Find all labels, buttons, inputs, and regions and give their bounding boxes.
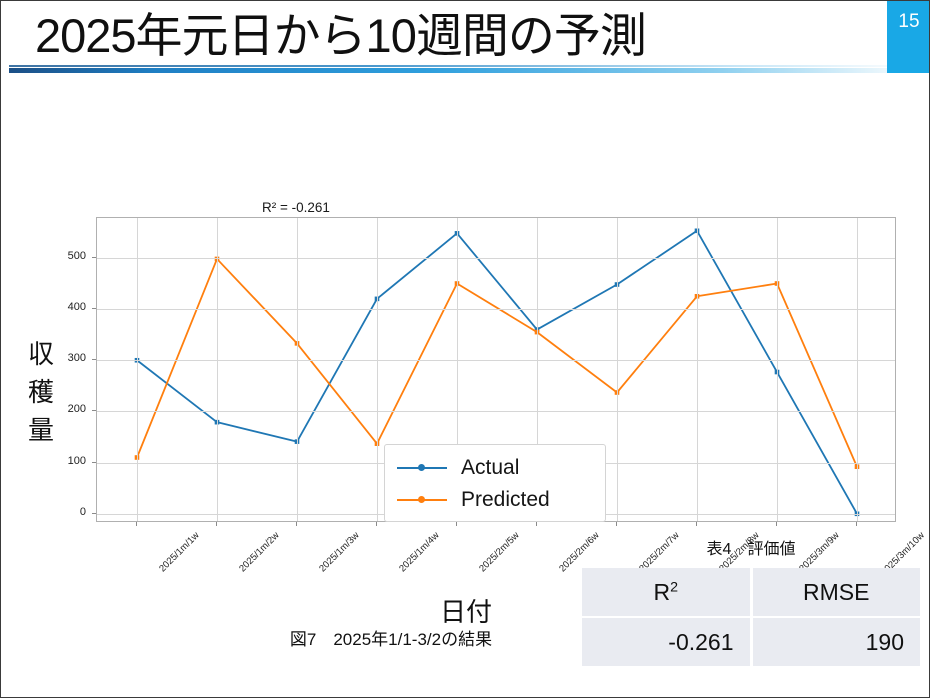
evaluation-table: R2 RMSE -0.261 190 [579,566,923,668]
x-tick-mark [856,522,857,526]
x-tick-label: 2025/1m/1w [157,530,201,574]
chart-title: R² = -0.261 [96,200,496,215]
x-tick-label: 2025/1m/3w [317,530,361,574]
y-tick-label: 100 [1,455,86,467]
x-tick-mark [296,522,297,526]
x-gridline [697,218,698,521]
x-tick-mark [136,522,137,526]
table-header-row: R2 RMSE [582,568,920,616]
table-header-r2-text: R [653,579,670,605]
table-cell-rmse-value: 190 [753,618,921,666]
y-tick-label: 300 [1,352,86,364]
x-gridline [857,218,858,521]
x-tick-mark [216,522,217,526]
x-gridline [377,218,378,521]
y-tick-mark [92,308,96,309]
legend-item-predicted: Predicted [385,484,605,516]
table-header-r2: R2 [582,568,750,616]
y-tick-label: 500 [1,250,86,262]
title-underline-rule [9,68,923,73]
y-tick-mark [92,359,96,360]
legend-label-actual: Actual [461,456,519,480]
x-tick-label: 2025/1m/4w [397,530,441,574]
y-tick-mark [92,410,96,411]
slide-number-badge: 15 [887,1,929,73]
x-gridline [617,218,618,521]
x-gridline [217,218,218,521]
table-caption: 表4 評価値 [579,535,923,559]
x-tick-mark [536,522,537,526]
table-header-rmse: RMSE [753,568,921,616]
title-rule-thin [9,65,923,67]
y-tick-label: 400 [1,301,86,313]
x-tick-label: 2025/1m/2w [237,530,281,574]
x-tick-mark [696,522,697,526]
x-gridline [777,218,778,521]
x-tick-mark [456,522,457,526]
legend-swatch-actual [397,467,447,469]
y-tick-mark [92,462,96,463]
legend-label-predicted: Predicted [461,488,550,512]
table-header-r2-exponent: 2 [670,579,678,595]
legend-item-actual: Actual [385,452,605,484]
table-row: -0.261 190 [582,618,920,666]
slide-header: 2025年元日から10週間の予測 15 [1,1,929,77]
x-tick-mark [776,522,777,526]
y-tick-mark [92,257,96,258]
y-tick-label: 0 [1,506,86,518]
x-tick-mark [376,522,377,526]
x-gridline [137,218,138,521]
figure-area: 収穫量 R² = -0.261 Actual Predicted 日付 図7 2… [1,87,929,567]
page-title: 2025年元日から10週間の予測 [35,5,646,67]
evaluation-table-block: 表4 評価値 R2 RMSE -0.261 190 [579,535,923,668]
y-tick-label: 200 [1,403,86,415]
y-tick-mark [92,513,96,514]
legend-swatch-predicted [397,499,447,501]
series-line-predicted [137,259,857,467]
x-tick-label: 2025/2m/5w [477,530,521,574]
x-tick-mark [616,522,617,526]
chart-legend: Actual Predicted [384,444,606,522]
slide-canvas: 2025年元日から10週間の予測 15 収穫量 R² = -0.261 Actu… [1,1,929,697]
x-gridline [297,218,298,521]
table-cell-r2-value: -0.261 [582,618,750,666]
